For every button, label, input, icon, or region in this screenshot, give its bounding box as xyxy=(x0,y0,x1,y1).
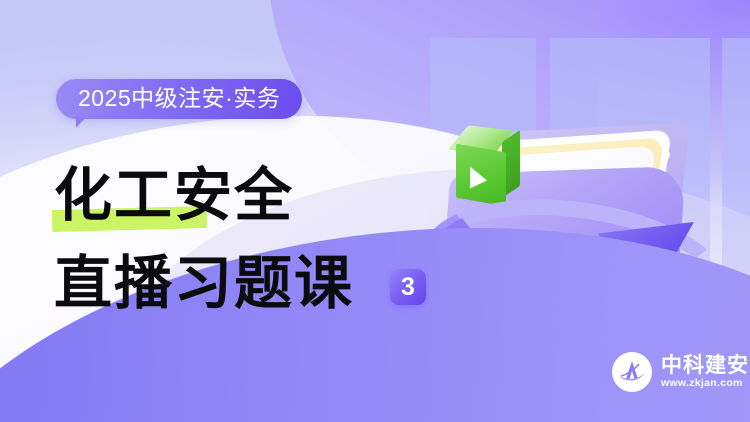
page-title-line-1: 化工安全 xyxy=(54,166,294,224)
episode-number-badge: 3 xyxy=(390,269,426,305)
page-title-line-2: 直播习题课 xyxy=(54,254,354,312)
brand-website-url: www.zkjan.com xyxy=(661,378,749,389)
brand-name-cn: 中科建安 xyxy=(661,355,749,376)
course-banner: 2025中级注安·实务 化工安全 直播习题课 3 中科建安 www.zkjan.… xyxy=(0,0,750,422)
course-category-badge: 2025中级注安·实务 xyxy=(56,79,302,119)
course-category-label: 2025中级注安·实务 xyxy=(78,85,280,111)
zkjan-emblem-icon xyxy=(612,352,652,392)
badge-speech-tail xyxy=(76,117,86,128)
brand-logo-text: 中科建安 www.zkjan.com xyxy=(661,355,749,389)
play-triangle-icon xyxy=(470,167,487,192)
brand-logo: 中科建安 www.zkjan.com xyxy=(612,352,749,392)
play-cube-icon xyxy=(452,130,512,190)
